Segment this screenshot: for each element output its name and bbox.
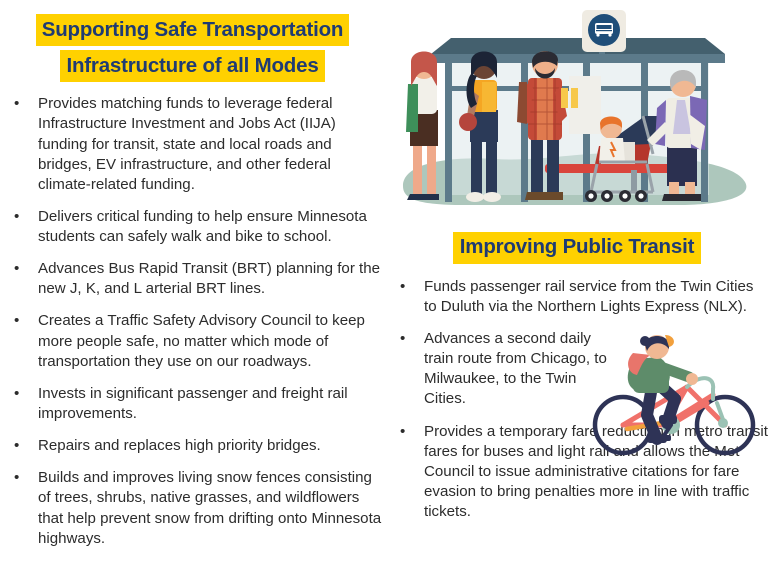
right-column: Improving Public Transit • Funds passeng… [385, 0, 769, 579]
bullet-marker: • [14, 207, 19, 227]
bullet-marker: • [400, 277, 405, 297]
left-column: Supporting Safe Transportation Infrastru… [0, 0, 385, 579]
bullet-marker: • [400, 422, 405, 442]
page-title: Supporting Safe Transportation Infrastru… [0, 0, 385, 82]
list-item-text: Provides matching funds to leverage fede… [38, 94, 385, 195]
bullet-marker: • [14, 94, 19, 114]
section-heading-improving-public-transit: Improving Public Transit [385, 232, 769, 264]
list-item: • Delivers critical funding to help ensu… [14, 207, 385, 247]
list-item: • Provides a temporary fare reduction in… [400, 422, 769, 523]
right-column-body: • Funds passenger rail service from the … [385, 277, 769, 523]
page-title-line-1: Supporting Safe Transportation [36, 14, 350, 46]
list-item: • Builds and improves living snow fences… [14, 468, 385, 549]
list-item: • Advances a second daily train route fr… [400, 329, 615, 410]
right-bullet-list: • Funds passenger rail service from the … [385, 277, 769, 523]
bullet-marker: • [14, 259, 19, 279]
list-item: • Repairs and replaces high priority bri… [14, 436, 385, 456]
list-item-text: Provides a temporary fare reduction in m… [424, 422, 769, 523]
section-heading-text: Improving Public Transit [453, 232, 701, 264]
list-item-text: Delivers critical funding to help ensure… [38, 207, 385, 247]
list-item: • Provides matching funds to leverage fe… [14, 94, 385, 195]
bus-stop-illustration [385, 0, 769, 232]
left-bullet-list: • Provides matching funds to leverage fe… [0, 94, 385, 549]
list-item: • Advances Bus Rapid Transit (BRT) plann… [14, 259, 385, 299]
list-item-text: Advances Bus Rapid Transit (BRT) plannin… [38, 259, 385, 299]
list-item: • Funds passenger rail service from the … [400, 277, 769, 317]
list-item: • Creates a Traffic Safety Advisory Coun… [14, 311, 385, 371]
list-item-text: Funds passenger rail service from the Tw… [424, 277, 769, 317]
list-item-text: Invests in significant passenger and fre… [38, 384, 385, 424]
list-item-text: Creates a Traffic Safety Advisory Counci… [38, 311, 385, 371]
page-title-line-2: Infrastructure of all Modes [60, 50, 324, 82]
infographic-page: Supporting Safe Transportation Infrastru… [0, 0, 769, 579]
list-item-text: Builds and improves living snow fences c… [38, 468, 385, 549]
list-item-text: Repairs and replaces high priority bridg… [38, 436, 385, 456]
bullet-marker: • [400, 329, 405, 349]
bullet-marker: • [14, 436, 19, 456]
bullet-marker: • [14, 384, 19, 404]
list-item: • Invests in significant passenger and f… [14, 384, 385, 424]
list-item-text: Advances a second daily train route from… [424, 329, 615, 410]
bullet-marker: • [14, 311, 19, 331]
bus-stop-svg [385, 4, 769, 232]
bullet-marker: • [14, 468, 19, 488]
